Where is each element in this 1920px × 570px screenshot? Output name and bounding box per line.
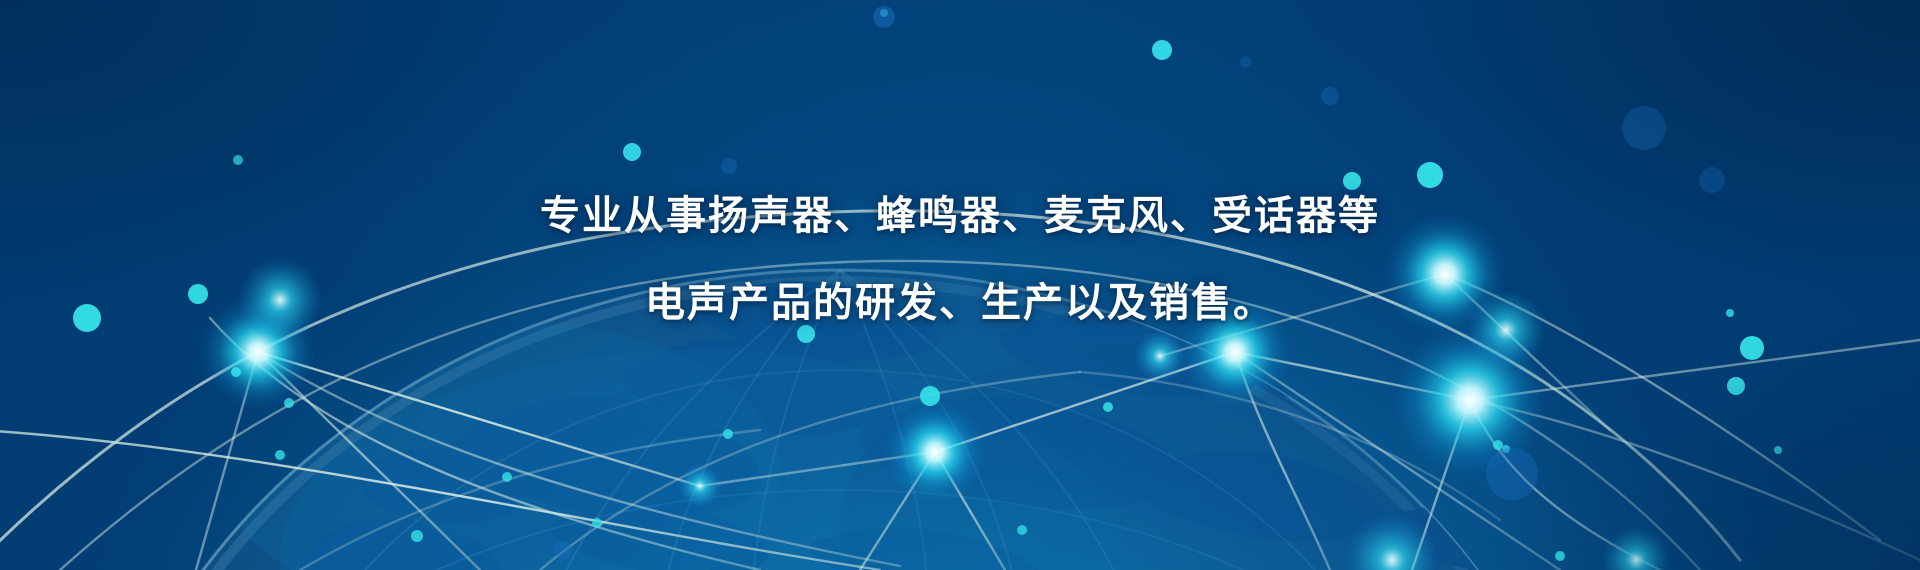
headline-line-1: 专业从事扬声器、蜂鸣器、麦克风、受话器等	[0, 196, 1920, 236]
hero-banner: 专业从事扬声器、蜂鸣器、麦克风、受话器等 电声产品的研发、生产以及销售。	[0, 0, 1920, 570]
headline-line-2: 电声产品的研发、生产以及销售。	[0, 283, 1920, 323]
banner-headline: 专业从事扬声器、蜂鸣器、麦克风、受话器等 电声产品的研发、生产以及销售。	[0, 196, 1920, 323]
